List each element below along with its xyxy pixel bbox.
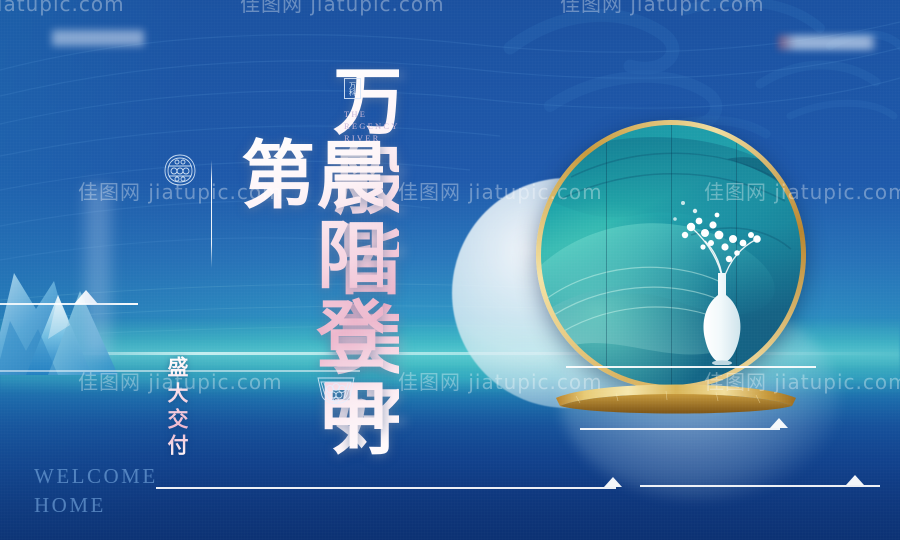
poster-canvas: 万般皆美好 晨阳登甲第 万科 THE REGENCY RIVER [0, 0, 900, 540]
noise-texture-overlay [0, 0, 900, 540]
